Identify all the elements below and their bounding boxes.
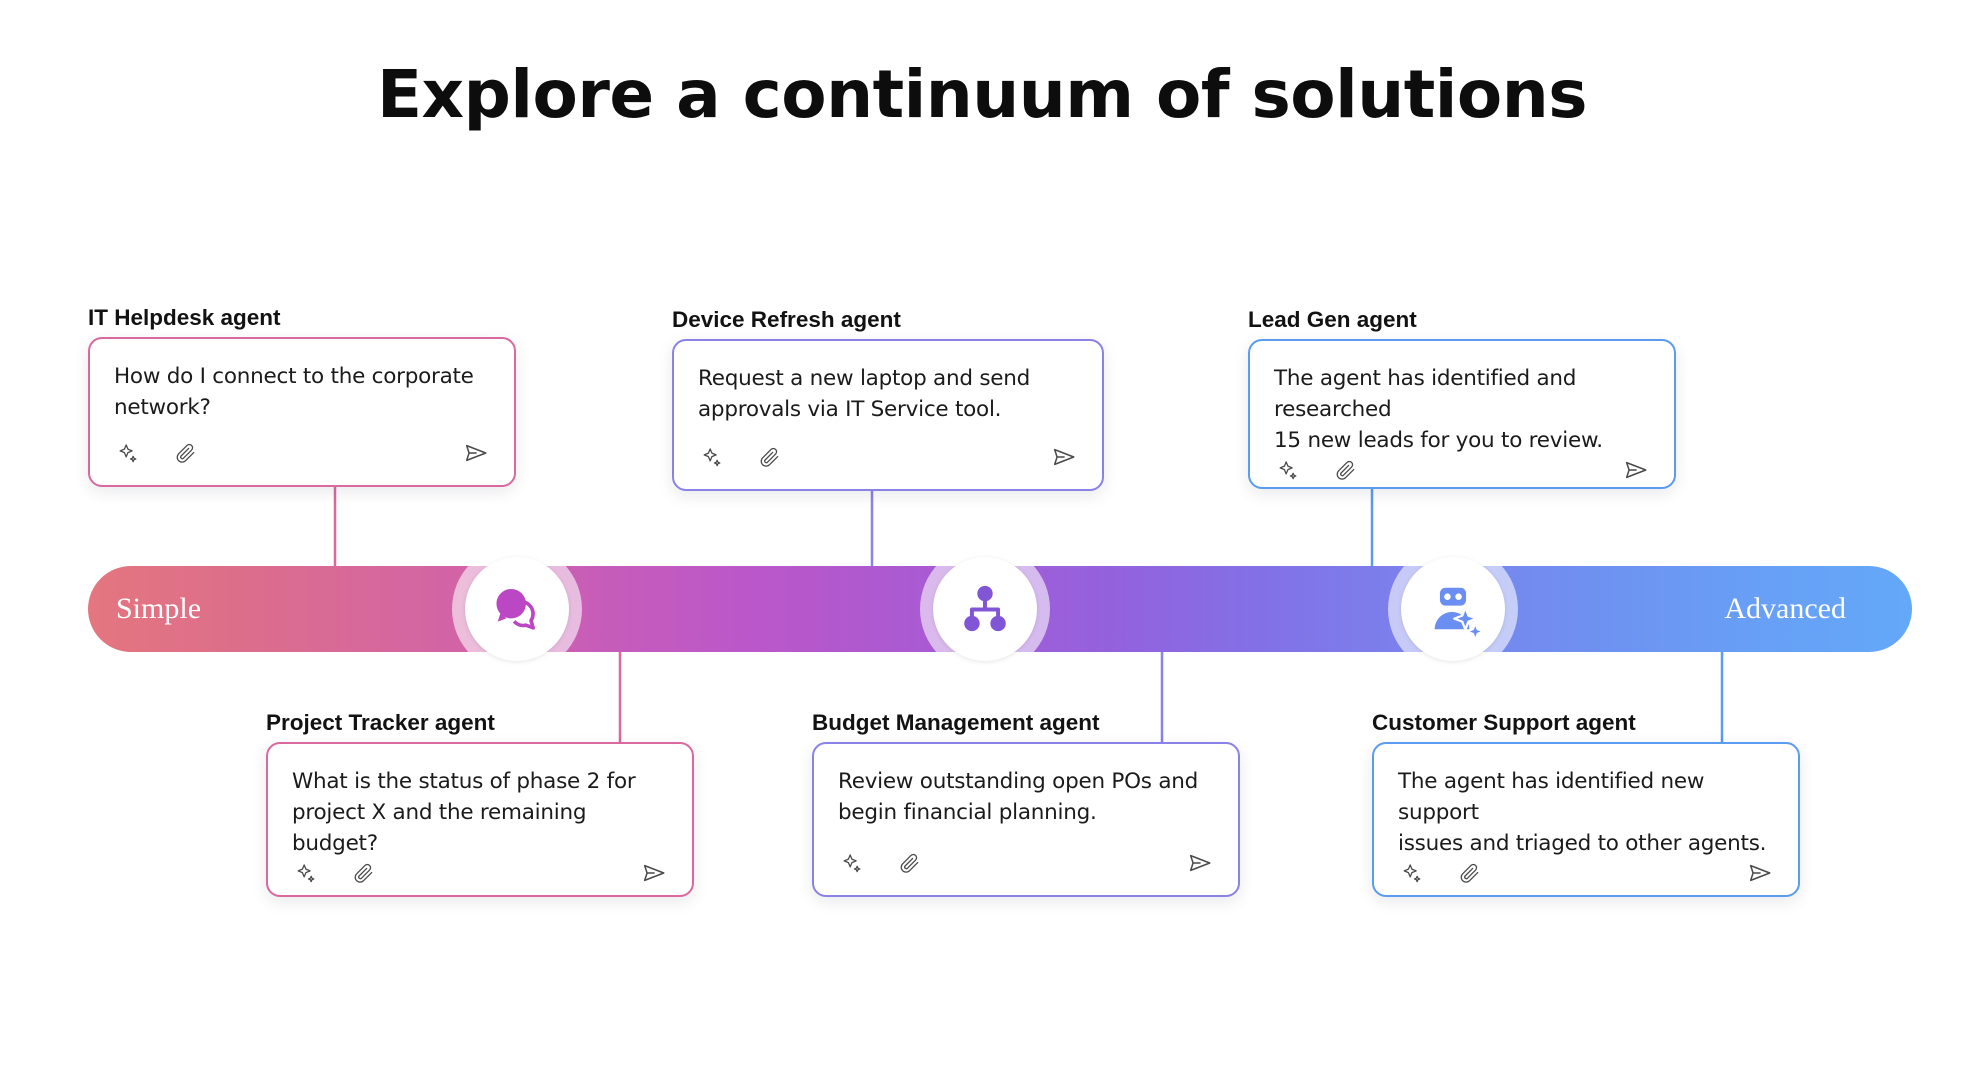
prompt-text: The agent has identified and researched … bbox=[1274, 363, 1650, 456]
node-inner-disc bbox=[465, 557, 569, 661]
sparkle-icon[interactable] bbox=[292, 859, 320, 887]
card-actions bbox=[292, 859, 668, 905]
agent-label-device-refresh: Device Refresh agent bbox=[672, 307, 901, 333]
agent-label-project-tracker: Project Tracker agent bbox=[266, 710, 495, 736]
card-actions bbox=[114, 439, 490, 485]
send-icon[interactable] bbox=[1050, 443, 1078, 471]
send-icon[interactable] bbox=[640, 859, 668, 887]
continuum-start-label: Simple bbox=[116, 566, 201, 652]
paperclip-icon[interactable] bbox=[756, 443, 784, 471]
agent-label-it-helpdesk: IT Helpdesk agent bbox=[88, 305, 281, 331]
paperclip-icon[interactable] bbox=[896, 849, 924, 877]
card-actions bbox=[1274, 456, 1650, 502]
continuum-node-intermediate[interactable] bbox=[920, 544, 1050, 674]
send-icon[interactable] bbox=[1186, 849, 1214, 877]
chat-bubbles-icon bbox=[488, 580, 546, 638]
sparkle-icon[interactable] bbox=[698, 443, 726, 471]
sparkle-icon[interactable] bbox=[1274, 456, 1302, 484]
robot-sparkle-icon bbox=[1424, 580, 1482, 638]
paperclip-icon[interactable] bbox=[172, 439, 200, 467]
sparkle-icon[interactable] bbox=[838, 849, 866, 877]
send-icon[interactable] bbox=[1746, 859, 1774, 887]
prompt-text: What is the status of phase 2 for projec… bbox=[292, 766, 668, 859]
prompt-text: The agent has identified new support iss… bbox=[1398, 766, 1774, 859]
paperclip-icon[interactable] bbox=[1456, 859, 1484, 887]
card-actions bbox=[838, 849, 1214, 895]
prompt-card-it-helpdesk[interactable]: How do I connect to the corporate networ… bbox=[88, 337, 516, 487]
page-title: Explore a continuum of solutions bbox=[0, 56, 1964, 133]
prompt-text: How do I connect to the corporate networ… bbox=[114, 361, 490, 423]
paperclip-icon[interactable] bbox=[350, 859, 378, 887]
continuum-node-simple[interactable] bbox=[452, 544, 582, 674]
agent-label-lead-gen: Lead Gen agent bbox=[1248, 307, 1417, 333]
prompt-card-budget-management[interactable]: Review outstanding open POs and begin fi… bbox=[812, 742, 1240, 897]
send-icon[interactable] bbox=[462, 439, 490, 467]
continuum-infographic: Explore a continuum of solutions Simple … bbox=[0, 0, 1964, 1070]
continuum-end-label: Advanced bbox=[1724, 566, 1846, 652]
card-actions bbox=[698, 443, 1078, 489]
send-icon[interactable] bbox=[1622, 456, 1650, 484]
node-inner-disc bbox=[933, 557, 1037, 661]
agent-label-budget-management: Budget Management agent bbox=[812, 710, 1100, 736]
sparkle-icon[interactable] bbox=[1398, 859, 1426, 887]
continuum-node-advanced[interactable] bbox=[1388, 544, 1518, 674]
prompt-card-lead-gen[interactable]: The agent has identified and researched … bbox=[1248, 339, 1676, 489]
node-inner-disc bbox=[1401, 557, 1505, 661]
prompt-card-device-refresh[interactable]: Request a new laptop and send approvals … bbox=[672, 339, 1104, 491]
agent-label-customer-support: Customer Support agent bbox=[1372, 710, 1636, 736]
prompt-text: Request a new laptop and send approvals … bbox=[698, 363, 1078, 425]
paperclip-icon[interactable] bbox=[1332, 456, 1360, 484]
sparkle-icon[interactable] bbox=[114, 439, 142, 467]
prompt-text: Review outstanding open POs and begin fi… bbox=[838, 766, 1214, 828]
hierarchy-icon bbox=[957, 581, 1013, 637]
card-actions bbox=[1398, 859, 1774, 905]
prompt-card-customer-support[interactable]: The agent has identified new support iss… bbox=[1372, 742, 1800, 897]
prompt-card-project-tracker[interactable]: What is the status of phase 2 for projec… bbox=[266, 742, 694, 897]
